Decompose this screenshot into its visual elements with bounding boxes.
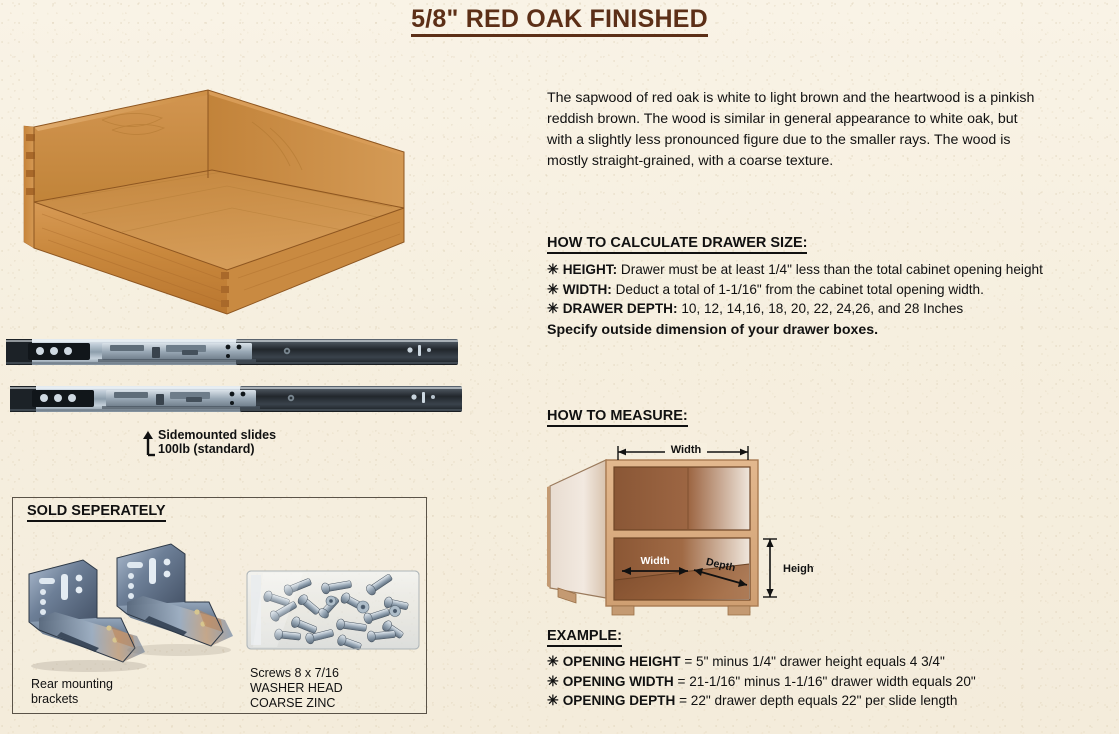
drawer-slides-photo xyxy=(2,336,464,426)
asterisk-bullet-icon: ✳ xyxy=(547,281,559,297)
calculate-item-width: ✳WIDTH: Deduct a total of 1-1/16" from t… xyxy=(547,280,1067,300)
page-title: 5/8" RED OAK FINISHED xyxy=(0,5,1119,34)
example-item-opening-depth: ✳OPENING DEPTH = 22" drawer depth equals… xyxy=(547,691,1067,711)
sold-separately-panel: SOLD SEPERATELY xyxy=(12,497,427,714)
drawer-slides-illustration xyxy=(2,336,464,426)
asterisk-bullet-icon: ✳ xyxy=(547,673,559,689)
calculate-item-depth-value: 10, 12, 14,16, 18, 20, 22, 24,26, and 28… xyxy=(681,301,963,316)
example-item-opening-height: ✳OPENING HEIGHT = 5" minus 1/4" drawer h… xyxy=(547,652,1067,672)
calculate-heading: HOW TO CALCULATE DRAWER SIZE: xyxy=(547,235,807,251)
example-item-opening-height-label: OPENING HEIGHT xyxy=(563,654,681,669)
diagram-label-height: Height xyxy=(783,563,814,575)
screws-label-line2: WASHER HEAD xyxy=(250,681,343,696)
asterisk-bullet-icon: ✳ xyxy=(547,692,559,708)
calculate-list: ✳HEIGHT: Drawer must be at least 1/4" le… xyxy=(547,260,1067,319)
example-item-opening-depth-value: = 22" drawer depth equals 22" per slide … xyxy=(679,693,957,708)
specify-note: Specify outside dimension of your drawer… xyxy=(547,322,878,338)
screws-label-line1: Screws 8 x 7/16 xyxy=(250,666,343,681)
calculate-item-width-value: Deduct a total of 1-1/16" from the cabin… xyxy=(616,282,984,297)
example-item-opening-height-value: = 5" minus 1/4" drawer height equals 4 3… xyxy=(684,654,944,669)
calculate-item-width-label: WIDTH: xyxy=(563,282,612,297)
sold-separately-title: SOLD SEPERATELY xyxy=(27,503,166,519)
drawer-box-photo xyxy=(12,82,428,320)
example-item-opening-width-value: = 21-1/16" minus 1-1/16" drawer width eq… xyxy=(678,674,976,689)
brackets-label: Rear mounting brackets xyxy=(31,677,113,707)
brackets-label-line1: Rear mounting xyxy=(31,677,113,692)
diagram-label-inner-width: Width xyxy=(640,555,669,567)
measure-heading-text: HOW TO MEASURE: xyxy=(547,408,688,427)
example-item-opening-width-label: OPENING WIDTH xyxy=(563,674,674,689)
drawer-box-illustration xyxy=(12,82,428,320)
example-item-opening-width: ✳OPENING WIDTH = 21-1/16" minus 1-1/16" … xyxy=(547,672,1067,692)
calculate-item-height-label: HEIGHT: xyxy=(563,262,617,277)
measure-heading: HOW TO MEASURE: xyxy=(547,408,688,424)
calculate-item-depth-label: DRAWER DEPTH: xyxy=(563,301,678,316)
screws-label-line3: COARSE ZINC xyxy=(250,696,343,711)
example-heading-text: EXAMPLE: xyxy=(547,628,622,647)
cabinet-measure-diagram: Width Width Depth Height xyxy=(542,440,814,622)
example-heading: EXAMPLE: xyxy=(547,628,622,644)
wood-description: The sapwood of red oak is white to light… xyxy=(547,88,1045,172)
asterisk-bullet-icon: ✳ xyxy=(547,653,559,669)
slides-caption: Sidemounted slides 100lb (standard) xyxy=(158,428,398,456)
calculate-item-depth: ✳DRAWER DEPTH: 10, 12, 14,16, 18, 20, 22… xyxy=(547,299,1067,319)
calculate-item-height: ✳HEIGHT: Drawer must be at least 1/4" le… xyxy=(547,260,1067,280)
callout-arrow-icon xyxy=(140,429,156,457)
brackets-label-line2: brackets xyxy=(31,692,113,707)
example-list: ✳OPENING HEIGHT = 5" minus 1/4" drawer h… xyxy=(547,652,1067,711)
cabinet-diagram-illustration: Width Width Depth Height xyxy=(542,440,814,622)
screws-label: Screws 8 x 7/16 WASHER HEAD COARSE ZINC xyxy=(250,666,343,711)
asterisk-bullet-icon: ✳ xyxy=(547,300,559,316)
slides-caption-line2: 100lb (standard) xyxy=(158,442,398,456)
diagram-label-top-width: Width xyxy=(671,444,702,456)
rear-mounting-brackets-image xyxy=(19,538,237,678)
screws-bag-image xyxy=(243,563,423,658)
asterisk-bullet-icon: ✳ xyxy=(547,261,559,277)
sold-separately-title-text: SOLD SEPERATELY xyxy=(27,503,166,522)
page-title-text: 5/8" RED OAK FINISHED xyxy=(411,5,708,37)
calculate-item-height-value: Drawer must be at least 1/4" less than t… xyxy=(621,262,1043,277)
calculate-heading-text: HOW TO CALCULATE DRAWER SIZE: xyxy=(547,235,807,254)
example-item-opening-depth-label: OPENING DEPTH xyxy=(563,693,676,708)
slides-caption-line1: Sidemounted slides xyxy=(158,428,398,442)
